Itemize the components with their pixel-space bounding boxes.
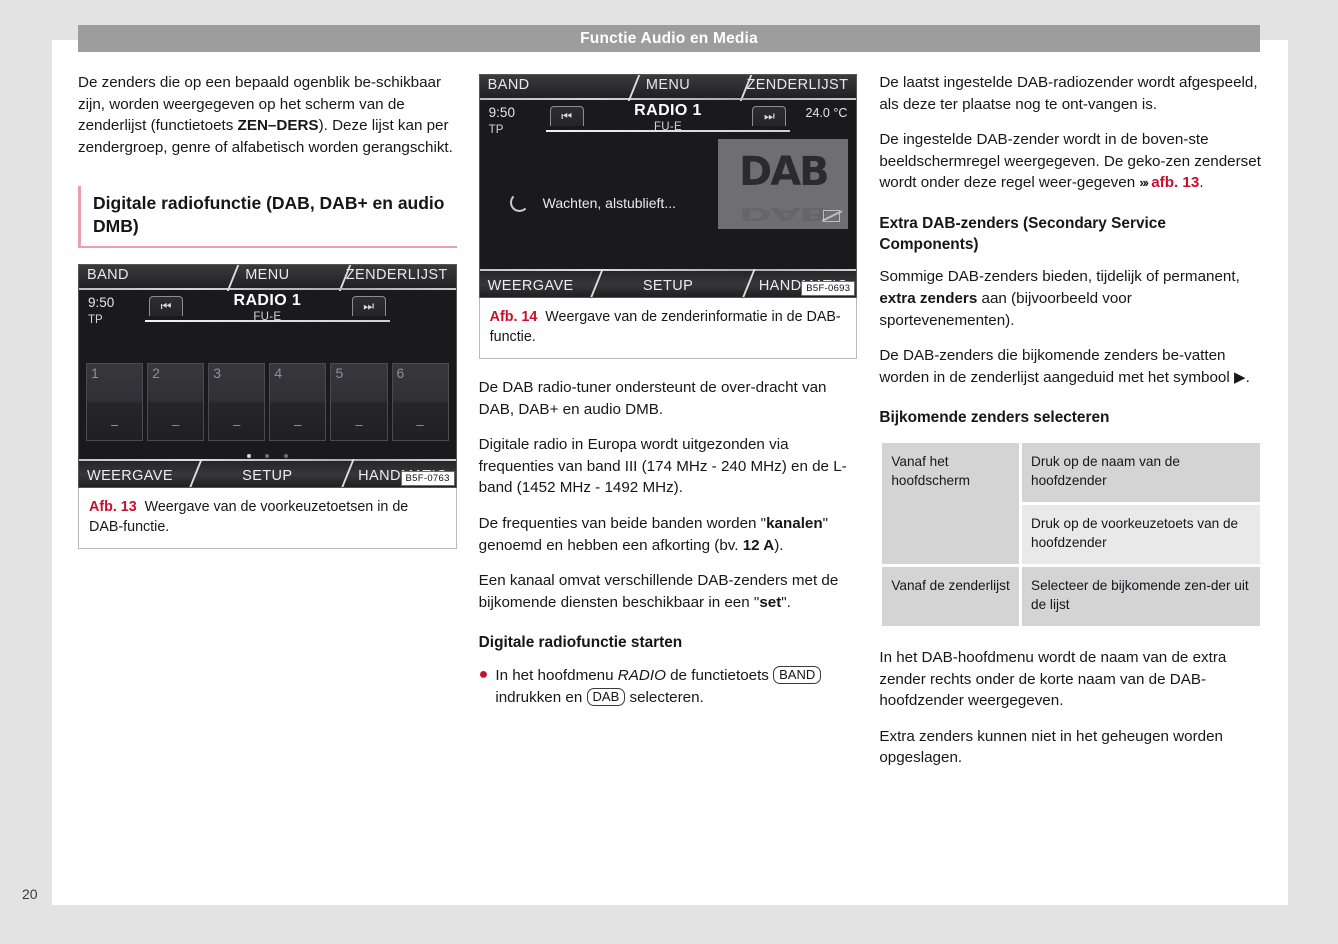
p3-text-a: Sommige DAB-zenders bieden, tijdelijk of… bbox=[879, 268, 1239, 285]
page-header-bar: Functie Audio en Media bbox=[78, 25, 1260, 52]
p4-text-b: . bbox=[1246, 369, 1250, 386]
intro-bold-zenders: ZEN–DERS bbox=[238, 117, 319, 134]
col2-paragraph-2: Digitale radio in Europa wordt uitgezond… bbox=[479, 434, 858, 499]
col3-paragraph-2: De ingestelde DAB-zender wordt in de bov… bbox=[879, 129, 1263, 194]
page-dot[interactable] bbox=[284, 454, 288, 458]
preset-empty-dash: – bbox=[209, 417, 264, 432]
col2-paragraph-3: De frequenties van beide banden worden "… bbox=[479, 513, 858, 556]
col2-paragraph-4: Een kanaal omvat verschillende DAB-zende… bbox=[479, 570, 858, 613]
preset-empty-dash: – bbox=[148, 417, 203, 432]
preset-button-2[interactable]: 2– bbox=[147, 363, 204, 441]
bullet-italic-radio: RADIO bbox=[618, 667, 666, 684]
page-dot[interactable] bbox=[265, 454, 269, 458]
preset-button-6[interactable]: 6– bbox=[392, 363, 449, 441]
page-dot-active[interactable] bbox=[247, 454, 251, 458]
column-2: BAND MENU ZENDERLIJST 9:50 TP 24.0 °C RA… bbox=[479, 72, 858, 862]
skip-next-icon[interactable]: ⏭ bbox=[352, 296, 386, 316]
column-3: De laatst ingestelde DAB-radiozender wor… bbox=[879, 72, 1263, 862]
bullet-text-a: In het hoofdmenu bbox=[495, 667, 617, 684]
p3-bold-extra-zenders: extra zenders bbox=[879, 290, 977, 307]
screen13-station-name: RADIO 1 bbox=[79, 292, 456, 310]
p3-bold-channel-code: 12 A bbox=[743, 537, 775, 554]
page-header-title: Functie Audio en Media bbox=[580, 30, 758, 48]
table-row: Vanaf het hoofdscherm Druk op de naam va… bbox=[882, 443, 1260, 502]
preset-number: 4 bbox=[274, 365, 282, 381]
screen13-zenderlijst-button[interactable]: ZENDERLIJST bbox=[346, 267, 448, 283]
screen14-image-code: B5F-0693 bbox=[801, 281, 855, 296]
bullet-text: In het hoofdmenu RADIO de functietoets B… bbox=[495, 665, 857, 708]
section-heading-block: Digitale radiofunctie (DAB, DAB+ en audi… bbox=[78, 186, 457, 247]
table-cell-action-3: Selecteer de bijkomende zen-der uit de l… bbox=[1022, 567, 1260, 626]
figure-14-block: BAND MENU ZENDERLIJST 9:50 TP 24.0 °C RA… bbox=[479, 74, 858, 359]
preset-button-4[interactable]: 4– bbox=[269, 363, 326, 441]
preset-number: 1 bbox=[91, 365, 99, 381]
p4-text-b: ". bbox=[781, 594, 791, 611]
skip-previous-icon[interactable]: ⏮ bbox=[550, 106, 584, 126]
p4-text-a: De DAB-zenders die bijkomende zenders be… bbox=[879, 347, 1234, 386]
screen14-progress-line bbox=[546, 130, 791, 132]
col3-paragraph-3: Sommige DAB-zenders bieden, tijdelijk of… bbox=[879, 266, 1263, 331]
table-row: Vanaf de zenderlijst Selecteer de bijkom… bbox=[882, 567, 1260, 626]
cross-reference-chevron-icon: »› bbox=[1139, 175, 1147, 190]
no-image-icon bbox=[823, 210, 840, 222]
table-cell-source-1: Vanaf het hoofdscherm bbox=[882, 443, 1019, 564]
page-number: 20 bbox=[22, 886, 38, 902]
p2-text-a: De ingestelde DAB-zender wordt in de bov… bbox=[879, 131, 1261, 191]
skip-next-icon[interactable]: ⏭ bbox=[752, 106, 786, 126]
section-heading-title: Digitale radiofunctie (DAB, DAB+ en audi… bbox=[93, 192, 457, 238]
p2-text-b: . bbox=[1199, 174, 1203, 191]
col2-subheading: Digitale radiofunctie starten bbox=[479, 633, 858, 654]
preset-number: 3 bbox=[213, 365, 221, 381]
col2-paragraph-1: De DAB radio-tuner ondersteunt de over-d… bbox=[479, 377, 858, 420]
p3-text-a: De frequenties van beide banden worden " bbox=[479, 515, 766, 532]
dab-logo-text: DAB bbox=[718, 149, 848, 195]
preset-button-1[interactable]: 1– bbox=[86, 363, 143, 441]
keycap-band[interactable]: BAND bbox=[773, 666, 821, 684]
bullet-text-d: selecteren. bbox=[625, 689, 704, 706]
screen13-image-code: B5F-0763 bbox=[401, 471, 455, 486]
screen13-bottombar: WEERGAVE SETUP HANDMATIG bbox=[79, 459, 456, 487]
col2-bullet-item: ● In het hoofdmenu RADIO de functietoets… bbox=[479, 665, 858, 708]
col3-paragraph-6: Extra zenders kunnen niet in het geheuge… bbox=[879, 726, 1263, 769]
bullet-text-c: indrukken en bbox=[495, 689, 586, 706]
figure-14-caption-text: Weergave van de zenderinformatie in de D… bbox=[490, 309, 841, 345]
screen14-bottombar: WEERGAVE SETUP HANDMATIG bbox=[480, 269, 857, 297]
preset-button-3[interactable]: 3– bbox=[208, 363, 265, 441]
col3-paragraph-4: De DAB-zenders die bijkomende zenders be… bbox=[879, 345, 1263, 388]
preset-number: 5 bbox=[335, 365, 343, 381]
three-column-body: De zenders die op een bepaald ogenblik b… bbox=[78, 72, 1263, 862]
p4-bold-set: set bbox=[759, 594, 781, 611]
preset-empty-dash: – bbox=[87, 417, 142, 432]
column-1: De zenders die op een bepaald ogenblik b… bbox=[78, 72, 457, 862]
figure-14-caption: Afb. 14 Weergave van de zenderinformatie… bbox=[479, 298, 858, 359]
col3-subheading-1: Extra DAB-zenders (Secondary Service Com… bbox=[879, 214, 1263, 256]
preset-number: 6 bbox=[397, 365, 405, 381]
table-cell-source-2: Vanaf de zenderlijst bbox=[882, 567, 1019, 626]
figure-13-caption-text: Weergave van de voorkeuzetoetsen in de D… bbox=[89, 499, 408, 535]
p3-text-c: ). bbox=[774, 537, 783, 554]
screen14-waiting-text: Wachten, alstublieft... bbox=[543, 195, 676, 211]
screen13-progress-line bbox=[145, 320, 390, 322]
figure-13-caption: Afb. 13 Weergave van de voorkeuzetoetsen… bbox=[78, 488, 457, 549]
cross-reference-afb13[interactable]: afb. 13 bbox=[1151, 174, 1199, 191]
screen14-zenderlijst-button[interactable]: ZENDERLIJST bbox=[746, 77, 848, 93]
play-triangle-icon: ▶ bbox=[1234, 369, 1246, 386]
keycap-dab[interactable]: DAB bbox=[587, 688, 626, 706]
preset-button-5[interactable]: 5– bbox=[330, 363, 387, 441]
screen14-station-name: RADIO 1 bbox=[480, 102, 857, 120]
col3-subheading-2: Bijkomende zenders selecteren bbox=[879, 408, 1263, 429]
table-cell-action-2: Druk op de voorkeuzetoets van de hoofdze… bbox=[1022, 505, 1260, 564]
col3-paragraph-5: In het DAB-hoofdmenu wordt de naam van d… bbox=[879, 647, 1263, 712]
screen14-waiting-row: Wachten, alstublieft... bbox=[510, 193, 676, 212]
infotainment-screen-14: BAND MENU ZENDERLIJST 9:50 TP 24.0 °C RA… bbox=[479, 74, 858, 298]
manual-page: Functie Audio en Media De zenders die op… bbox=[0, 0, 1338, 944]
procedure-table: Vanaf het hoofdscherm Druk op de naam va… bbox=[879, 440, 1263, 629]
screen13-topbar: BAND MENU ZENDERLIJST bbox=[79, 265, 456, 290]
screen13-now-playing: 9:50 TP RADIO 1 FU-E ⏮ ⏭ bbox=[79, 292, 456, 340]
bullet-text-b: de functietoets bbox=[666, 667, 773, 684]
figure-13-label: Afb. 13 bbox=[89, 499, 137, 515]
preset-number: 2 bbox=[152, 365, 160, 381]
screen13-preset-row: 1– 2– 3– 4– 5– 6– bbox=[86, 363, 449, 441]
table-cell-action-1: Druk op de naam van de hoofdzender bbox=[1022, 443, 1260, 502]
preset-empty-dash: – bbox=[393, 417, 448, 432]
loading-spinner-icon bbox=[510, 193, 529, 212]
col3-paragraph-1: De laatst ingestelde DAB-radiozender wor… bbox=[879, 72, 1263, 115]
figure-13-block: BAND MENU ZENDERLIJST 9:50 TP RADIO 1 FU… bbox=[78, 264, 457, 549]
bullet-dot-icon: ● bbox=[479, 665, 489, 708]
p3-bold-kanalen: kanalen bbox=[766, 515, 823, 532]
skip-previous-icon[interactable]: ⏮ bbox=[149, 296, 183, 316]
preset-empty-dash: – bbox=[331, 417, 386, 432]
infotainment-screen-13: BAND MENU ZENDERLIJST 9:50 TP RADIO 1 FU… bbox=[78, 264, 457, 488]
intro-paragraph: De zenders die op een bepaald ogenblik b… bbox=[78, 72, 457, 158]
figure-14-label: Afb. 14 bbox=[490, 309, 538, 325]
preset-empty-dash: – bbox=[270, 417, 325, 432]
screen14-topbar: BAND MENU ZENDERLIJST bbox=[480, 75, 857, 100]
dab-logo-tile: DAB DAB bbox=[718, 139, 848, 229]
